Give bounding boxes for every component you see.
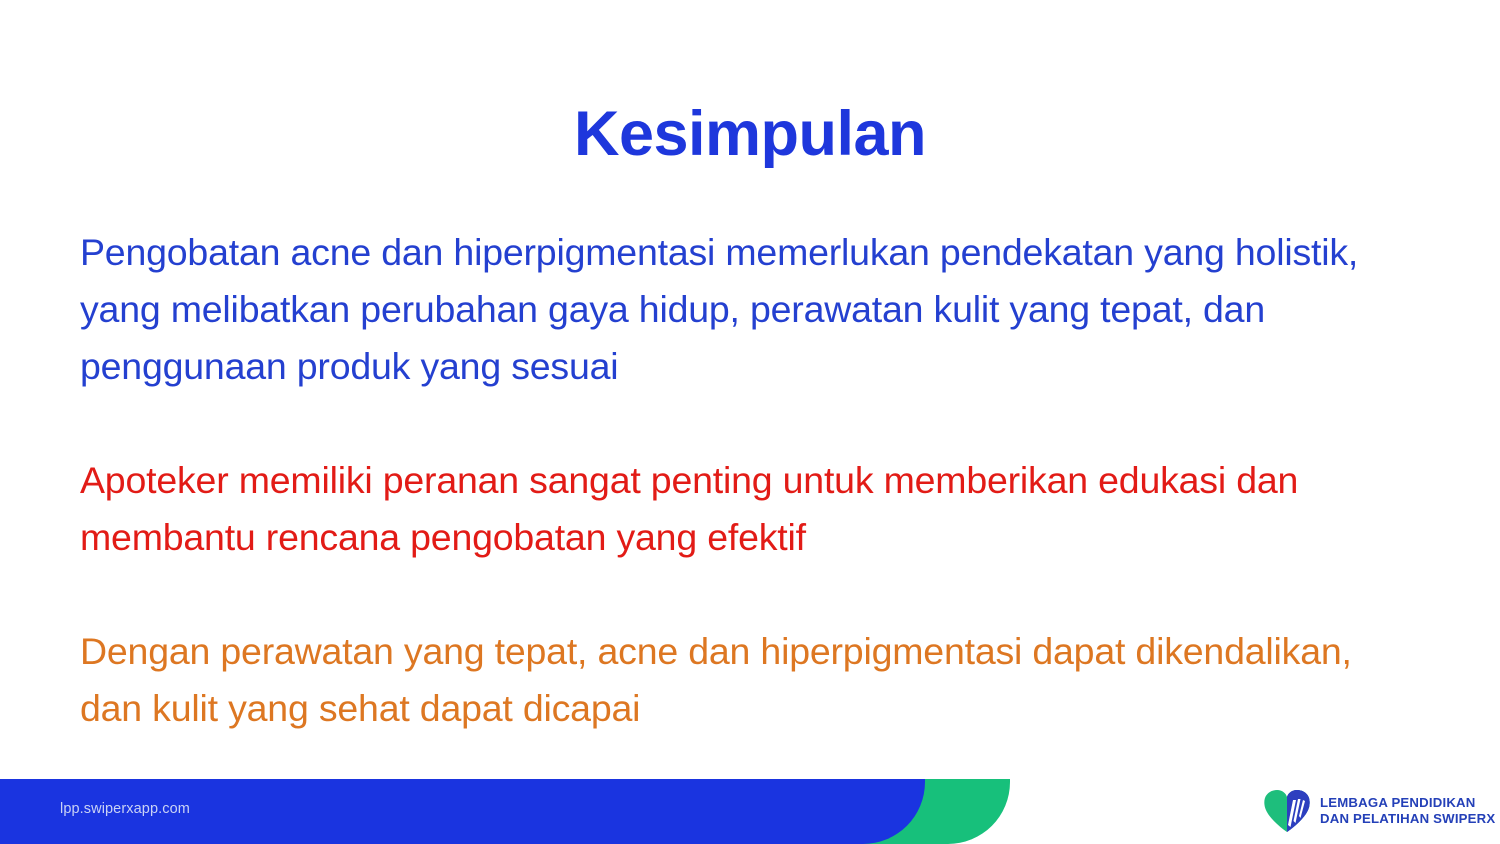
logo-wordmark: LEMBAGA PENDIDIKAN DAN PELATIHAN SWIPERX bbox=[1320, 795, 1495, 827]
swiperx-heart-logo-icon bbox=[1263, 789, 1311, 833]
paragraph-healthy-skin: Dengan perawatan yang tepat, acne dan hi… bbox=[80, 623, 1370, 737]
footer-blue-left-block bbox=[0, 779, 57, 844]
paragraph-holistic-approach: Pengobatan acne dan hiperpigmentasi meme… bbox=[80, 224, 1370, 395]
page-title: Kesimpulan bbox=[0, 100, 1500, 169]
logo-line-1: LEMBAGA PENDIDIKAN bbox=[1320, 795, 1495, 811]
slide-kesimpulan: Kesimpulan Pengobatan acne dan hiperpigm… bbox=[0, 0, 1500, 844]
paragraph-pharmacist-role: Apoteker memiliki peranan sangat penting… bbox=[80, 452, 1370, 566]
logo-line-2: DAN PELATIHAN SWIPERX bbox=[1320, 811, 1495, 827]
footer-website-url: lpp.swiperxapp.com bbox=[60, 801, 190, 817]
organization-logo: LEMBAGA PENDIDIKAN DAN PELATIHAN SWIPERX bbox=[1263, 789, 1495, 833]
body-content: Pengobatan acne dan hiperpigmentasi meme… bbox=[80, 224, 1370, 737]
